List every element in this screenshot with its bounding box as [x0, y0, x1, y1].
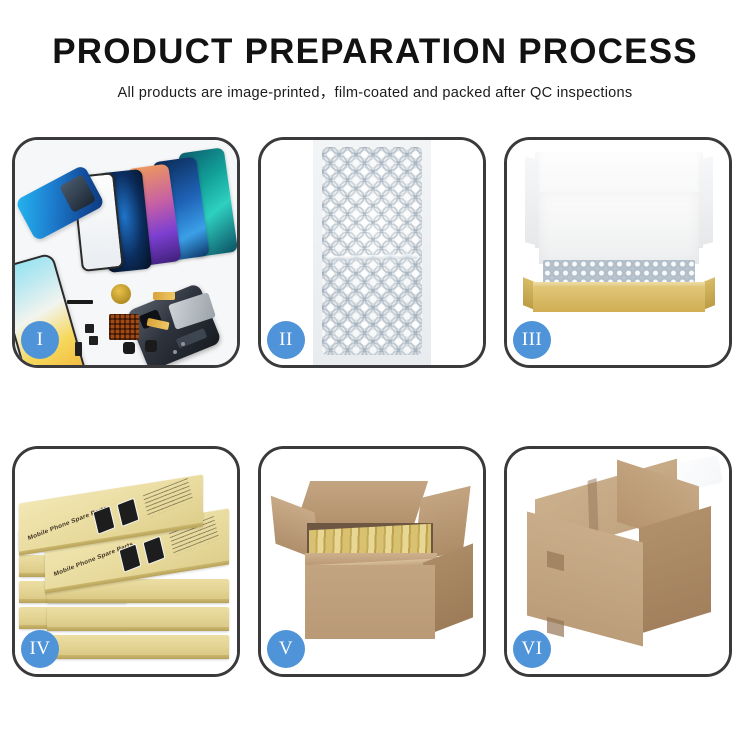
part-coil-icon: [111, 284, 131, 304]
part-sim-tray-icon: [75, 342, 82, 356]
sealed-carton-tape-lower: [547, 617, 564, 638]
inner-box-front-wall: [533, 286, 705, 312]
process-step-panel-4[interactable]: Mobile Phone Spare Parts Mobile Phone Sp…: [12, 446, 240, 677]
box-thumbnail-2b: [143, 536, 166, 565]
part-chip-icon: [85, 324, 94, 333]
step-badge-6: VI: [513, 630, 551, 668]
box-thumbnail-1b: [117, 498, 140, 527]
process-step-panel-1[interactable]: I: [12, 137, 240, 368]
step-badge-2: II: [267, 321, 305, 359]
step-badge-3: III: [513, 321, 551, 359]
process-step-panel-5[interactable]: V: [258, 446, 486, 677]
bubble-wrap-pouch: [322, 147, 422, 355]
part-flex-cable-2-icon: [146, 318, 169, 330]
step-badge-5: V: [267, 630, 305, 668]
box-thumbnail-1a: [93, 505, 116, 534]
part-strip-icon: [67, 300, 93, 304]
part-screw-icon: [173, 350, 177, 354]
page-header: PRODUCT PREPARATION PROCESS All products…: [0, 0, 750, 102]
part-board-icon: [109, 314, 139, 340]
part-flex-cable-icon: [153, 292, 175, 300]
repair-tool-icon: [168, 292, 216, 330]
box-spec-lines-1: [143, 478, 193, 518]
page-title: PRODUCT PREPARATION PROCESS: [0, 34, 750, 71]
stacked-box-front-3: [47, 635, 229, 659]
process-step-grid: I II III: [12, 137, 738, 677]
process-step-panel-2[interactable]: II: [258, 137, 486, 368]
sealed-carton-right-face: [639, 506, 711, 634]
step-badge-4: IV: [21, 630, 59, 668]
sealed-carton-front-face: [527, 511, 643, 646]
stacked-box-front-2: [47, 607, 229, 631]
process-step-panel-6[interactable]: VI: [504, 446, 732, 677]
box-thumbnail-2a: [119, 543, 142, 572]
part-speaker-icon: [123, 342, 135, 354]
step-badge-1: I: [21, 321, 59, 359]
process-step-panel-3[interactable]: III: [504, 137, 732, 368]
page-subtitle: All products are image-printed，film-coat…: [0, 81, 750, 102]
inner-box-foam: [539, 192, 699, 264]
bubble-pattern-offset: [322, 147, 422, 355]
carton-back-flap: [296, 481, 428, 525]
part-chip-2-icon: [89, 336, 98, 345]
part-screw-2-icon: [181, 342, 185, 346]
carton-front-face: [305, 565, 435, 639]
spare-parts-cluster: [67, 280, 217, 362]
part-camera-icon: [145, 340, 157, 352]
